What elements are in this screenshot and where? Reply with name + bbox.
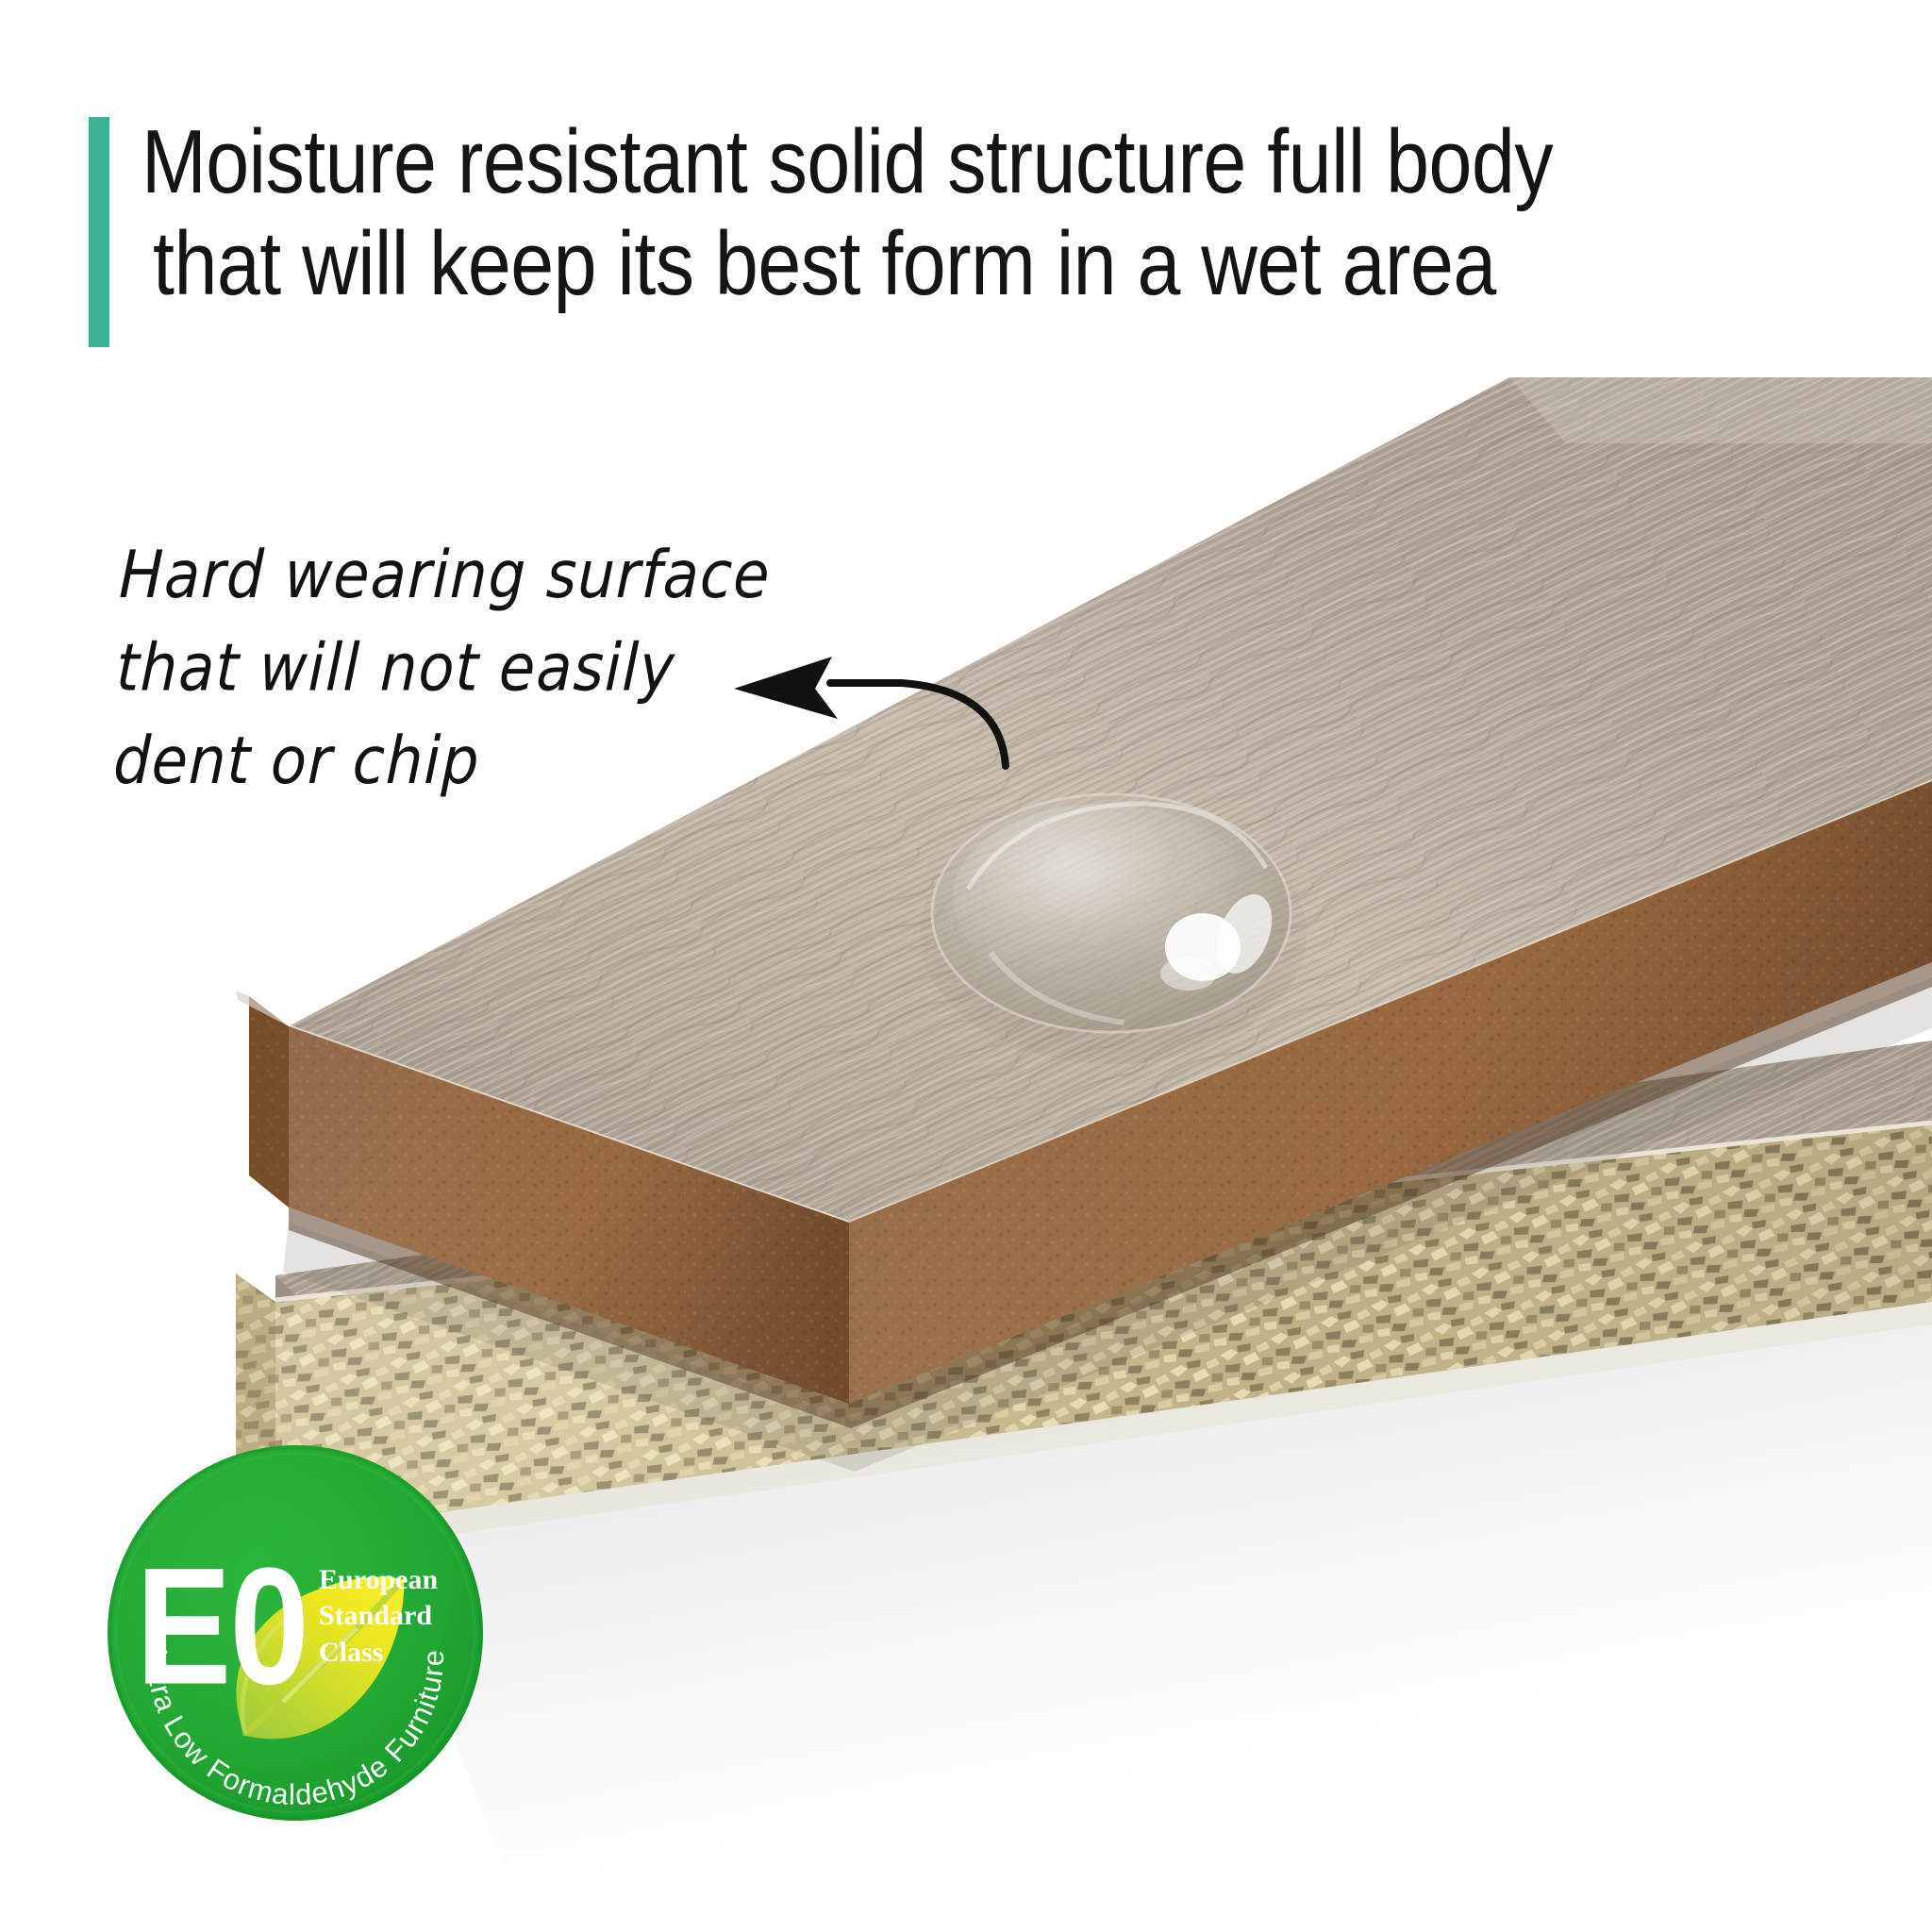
badge-subtitle: European Standard Class <box>319 1562 438 1671</box>
annotation-line-1: Hard wearing surface <box>118 528 781 622</box>
page-title: Moisture resistant solid structure full … <box>142 111 1593 314</box>
badge-grade: E0 <box>136 1543 308 1709</box>
accent-bar <box>89 117 109 347</box>
annotation-line-3: dent or chip <box>112 714 775 808</box>
annotation-callout: Hard wearing surface that will not easil… <box>112 528 781 808</box>
infographic-canvas: Moisture resistant solid structure full … <box>0 0 1932 1932</box>
badge-sub-line-2: Standard <box>319 1598 438 1634</box>
headline-line-1: Moisture resistant solid structure full … <box>142 111 1593 213</box>
e0-certification-badge: Ultra Low Formaldehyde Furniture E0 Euro… <box>104 1441 487 1824</box>
headline-line-2: that will keep its best form in a wet ar… <box>142 213 1593 315</box>
curved-arrow-icon <box>717 651 1038 821</box>
badge-sub-line-3: Class <box>319 1635 438 1671</box>
annotation-line-2: that will not easily <box>115 622 778 715</box>
badge-sub-line-1: European <box>319 1562 438 1598</box>
